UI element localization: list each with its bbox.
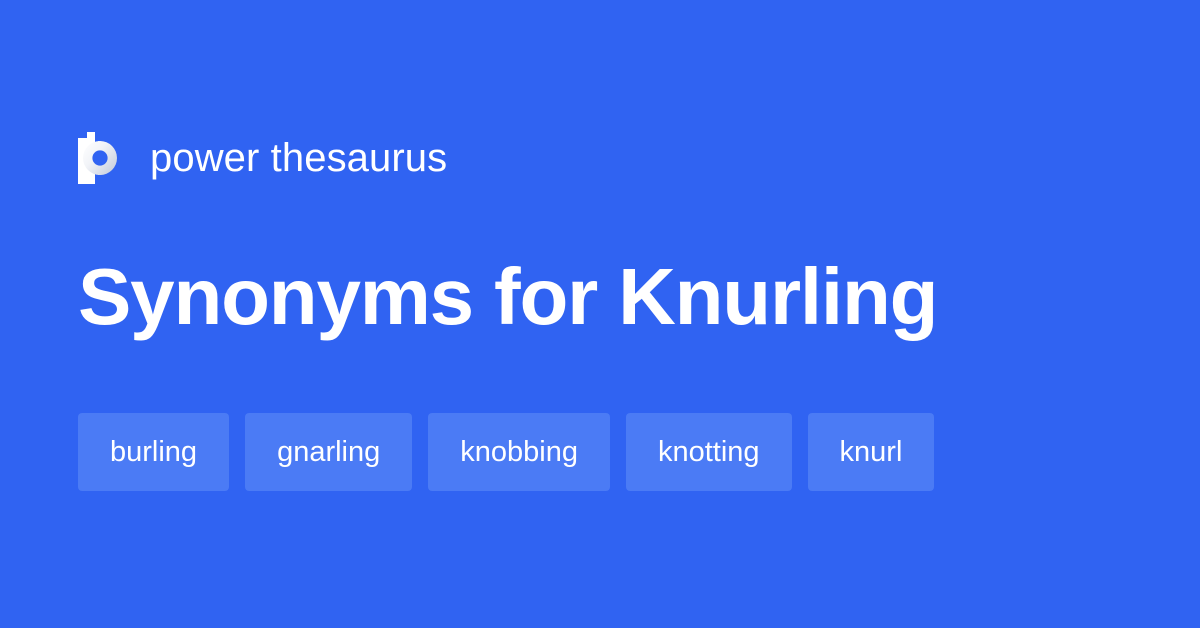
- synonym-chip[interactable]: gnarling: [245, 413, 412, 491]
- synonyms-share-card: power thesaurus Synonyms for Knurling bu…: [0, 0, 1200, 628]
- synonym-chip[interactable]: burling: [78, 413, 229, 491]
- synonym-chip[interactable]: knurl: [808, 413, 935, 491]
- synonym-chip-list: burling gnarling knobbing knotting knurl: [78, 413, 1138, 491]
- synonym-chip[interactable]: knobbing: [428, 413, 610, 491]
- page-title: Synonyms for Knurling: [78, 249, 937, 345]
- synonym-chip[interactable]: knotting: [626, 413, 792, 491]
- brand-name: power thesaurus: [150, 138, 447, 178]
- power-thesaurus-b-logo-icon: [78, 132, 124, 184]
- brand-lockup[interactable]: power thesaurus: [78, 127, 447, 189]
